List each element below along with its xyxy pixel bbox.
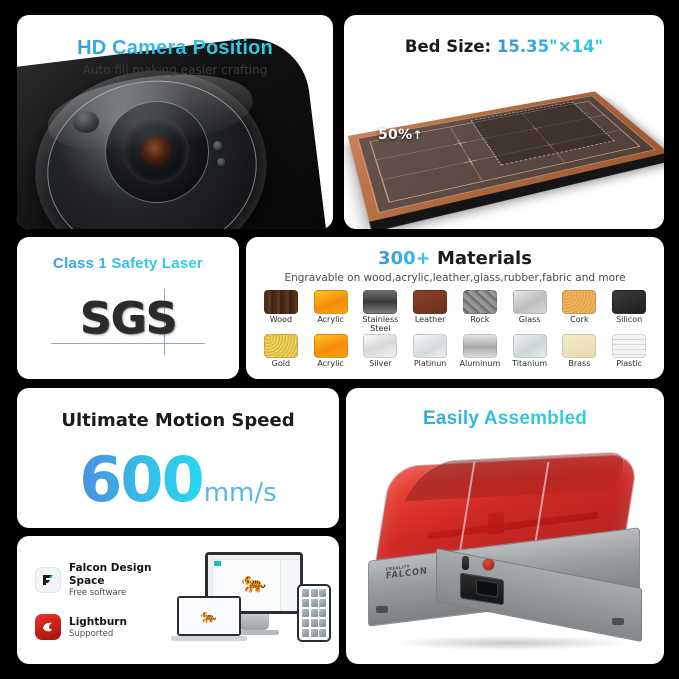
- machine-emergency-stop-button[interactable]: [482, 558, 495, 571]
- material-swatch: [264, 290, 298, 314]
- card-materials: 300+ Materials Engravable on wood,acryli…: [246, 237, 664, 379]
- material-swatch: [314, 334, 348, 358]
- material-label: Plastic: [604, 360, 654, 369]
- card-software: Falcon Design SpaceFree softwareLightbur…: [17, 536, 339, 664]
- bed-header: Bed Size: 15.35"×14": [344, 37, 664, 56]
- speed-title: Ultimate Motion Speed: [17, 410, 339, 431]
- material-label: Rock: [455, 316, 505, 325]
- material-item[interactable]: Silver: [356, 334, 406, 369]
- card-easily-assembled: Easily Assembled CREALITY FALCON: [346, 388, 664, 664]
- bed-zoom-value: 50%: [378, 127, 412, 143]
- speed-unit: mm/s: [204, 478, 277, 508]
- machine-joystick[interactable]: [462, 556, 469, 570]
- material-swatch: [413, 290, 447, 314]
- card-bed-size: Bed Size: 15.35"×14": [344, 15, 664, 229]
- material-swatch: [612, 334, 646, 358]
- falcon-logo-icon: [35, 567, 61, 593]
- material-item[interactable]: Brass: [555, 334, 605, 369]
- camera-header: HD Camera Position Auto fill making easi…: [17, 37, 333, 77]
- software-text: LightburnSupported: [69, 616, 127, 639]
- feature-board: HD Camera Position Auto fill making easi…: [0, 0, 679, 679]
- device-laptop: 🐅: [177, 596, 241, 636]
- lightburn-logo-icon: [35, 614, 61, 640]
- tiger-artwork-small-icon: 🐅: [201, 610, 217, 623]
- software-item[interactable]: Falcon Design SpaceFree software: [35, 562, 185, 598]
- bed-size-title: Bed Size: 15.35"×14": [344, 37, 664, 56]
- material-item[interactable]: Wood: [256, 290, 306, 334]
- material-label: Aluminum: [455, 360, 505, 369]
- material-label: Acrylic: [306, 316, 356, 325]
- material-swatch: [363, 290, 397, 314]
- material-item[interactable]: Glass: [505, 290, 555, 334]
- device-phone: [297, 584, 331, 642]
- material-swatch: [314, 290, 348, 314]
- material-item[interactable]: Gold: [256, 334, 306, 369]
- material-label: Leather: [405, 316, 455, 325]
- material-label: Acrylic: [306, 360, 356, 369]
- material-item[interactable]: Acrylic: [306, 334, 356, 369]
- material-label: Wood: [256, 316, 306, 325]
- software-item[interactable]: LightburnSupported: [35, 614, 185, 640]
- sgs-logo: SGS: [17, 289, 239, 363]
- software-name: Lightburn: [69, 616, 127, 629]
- material-swatch: [513, 290, 547, 314]
- assembled-header: Easily Assembled: [346, 408, 664, 430]
- sgs-logo-text: SGS: [17, 293, 239, 344]
- material-swatch: [264, 334, 298, 358]
- material-item[interactable]: Plastic: [604, 334, 654, 369]
- card-hd-camera: HD Camera Position Auto fill making easi…: [17, 15, 333, 229]
- material-item[interactable]: Aluminum: [455, 334, 505, 369]
- safety-title: Class 1 Safety Laser: [17, 255, 239, 272]
- software-name: Falcon Design Space: [69, 562, 185, 588]
- material-swatch: [513, 334, 547, 358]
- material-item[interactable]: Stainless Steel: [356, 290, 406, 334]
- bed-size-value: 15.35"×14": [497, 37, 603, 56]
- material-swatch: [463, 290, 497, 314]
- material-label: Cork: [555, 316, 605, 325]
- materials-grid: WoodAcrylicStainless SteelLeatherRockGla…: [256, 290, 654, 369]
- materials-count: 300+: [378, 248, 431, 269]
- materials-header: 300+ Materials Engravable on wood,acryli…: [256, 248, 654, 284]
- safety-header: Class 1 Safety Laser: [17, 255, 239, 272]
- tiger-artwork-icon: 🐅: [242, 573, 267, 593]
- material-swatch: [413, 334, 447, 358]
- materials-subtitle: Engravable on wood,acrylic,leather,glass…: [256, 272, 654, 284]
- material-swatch: [562, 334, 596, 358]
- camera-subtitle: Auto fill making easier crafting: [17, 63, 333, 77]
- bed-zoom-badge: 50%↑: [378, 127, 423, 143]
- speed-value-row: 600 mm/s: [17, 443, 339, 516]
- software-desc: Free software: [69, 588, 185, 598]
- material-label: Titanium: [505, 360, 555, 369]
- material-swatch: [562, 290, 596, 314]
- material-swatch: [463, 334, 497, 358]
- bed-illustration: 50%↑: [344, 61, 664, 229]
- material-label: Gold: [256, 360, 306, 369]
- material-item[interactable]: Titanium: [505, 334, 555, 369]
- bed-zoom-arrow-icon: ↑: [412, 128, 422, 142]
- assembled-title: Easily Assembled: [346, 408, 664, 430]
- material-item[interactable]: Platinun: [405, 334, 455, 369]
- material-label: Silver: [356, 360, 406, 369]
- software-text: Falcon Design SpaceFree software: [69, 562, 185, 598]
- software-desc: Supported: [69, 629, 127, 639]
- material-swatch: [612, 290, 646, 314]
- card-safety-laser: Class 1 Safety Laser SGS: [17, 237, 239, 379]
- material-swatch: [363, 334, 397, 358]
- software-devices-illustration: 🐅 🐅: [177, 548, 333, 656]
- material-item[interactable]: Cork: [555, 290, 605, 334]
- software-list: Falcon Design SpaceFree softwareLightbur…: [35, 562, 185, 656]
- camera-title: HD Camera Position: [17, 37, 333, 60]
- material-label: Stainless Steel: [356, 316, 406, 334]
- speed-value: 600: [79, 443, 202, 516]
- material-item[interactable]: Acrylic: [306, 290, 356, 334]
- bed-size-label: Bed Size:: [405, 37, 491, 56]
- material-item[interactable]: Rock: [455, 290, 505, 334]
- material-label: Platinun: [405, 360, 455, 369]
- material-label: Glass: [505, 316, 555, 325]
- material-item[interactable]: Leather: [405, 290, 455, 334]
- laser-machine-illustration: CREALITY FALCON: [346, 446, 664, 656]
- material-item[interactable]: Silicon: [604, 290, 654, 334]
- material-label: Silicon: [604, 316, 654, 325]
- card-motion-speed: Ultimate Motion Speed 600 mm/s: [17, 388, 339, 528]
- materials-title: 300+ Materials: [256, 248, 654, 269]
- material-label: Brass: [555, 360, 605, 369]
- materials-title-rest: Materials: [437, 248, 532, 269]
